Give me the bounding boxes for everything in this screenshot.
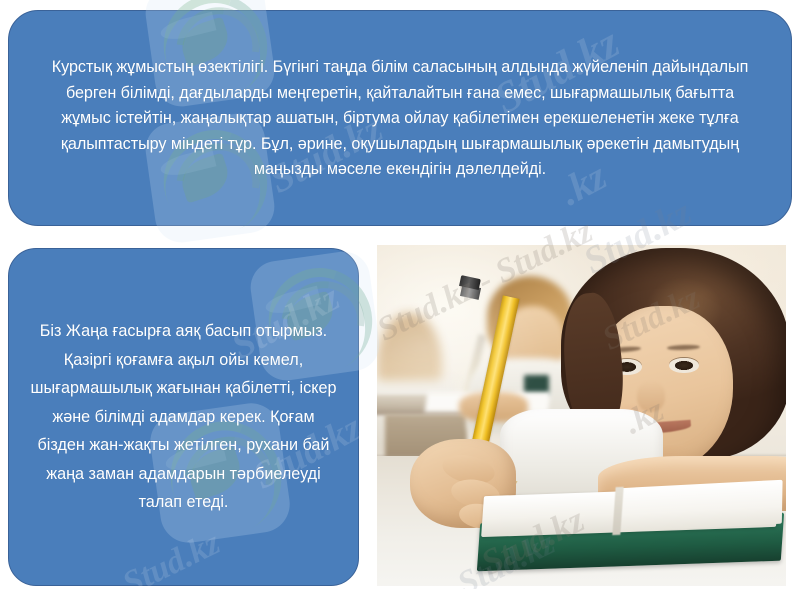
top-panel-text: Курстық жұмыстың өзектілігі. Бүгінгі таң…	[9, 55, 791, 182]
left-text-panel: Біз Жаңа ғасырға аяқ басып отырмыз. Қазі…	[8, 248, 359, 586]
slide-canvas: Курстық жұмыстың өзектілігі. Бүгінгі таң…	[0, 0, 800, 589]
photo-notebook-right-page	[618, 479, 783, 532]
photo-girl-nose	[637, 381, 666, 412]
photo-girl-eye-right	[669, 358, 698, 374]
top-text-panel: Курстық жұмыстың өзектілігі. Бүгінгі таң…	[8, 10, 792, 226]
left-panel-text: Біз Жаңа ғасырға аяқ басып отырмыз. Қазі…	[9, 317, 358, 517]
classroom-photo	[377, 245, 786, 586]
